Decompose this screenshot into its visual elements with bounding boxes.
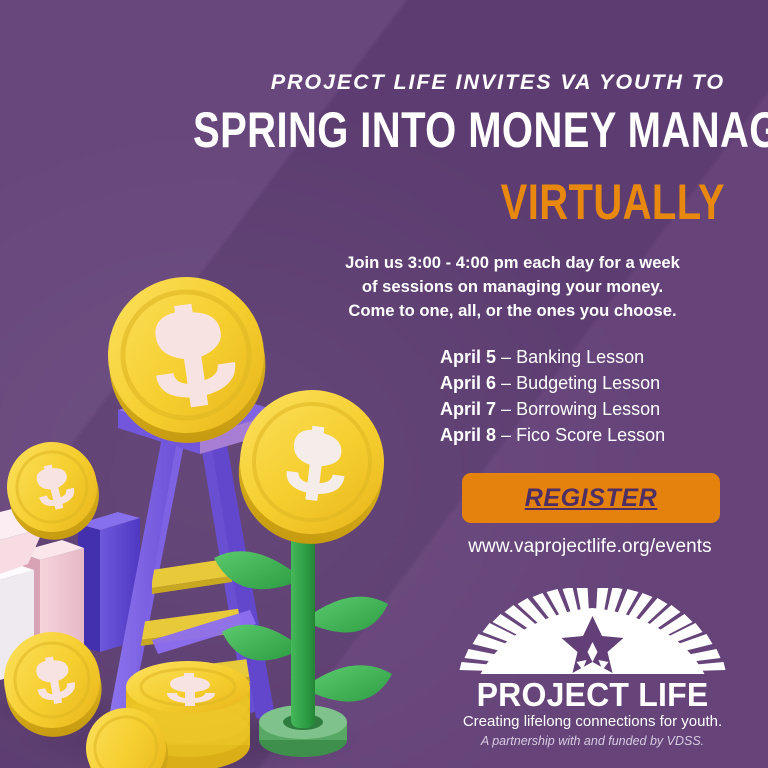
logo-wordmark: PROJECT LIFE: [459, 676, 726, 714]
session-title: Budgeting Lesson: [516, 373, 660, 393]
list-item: April 6 – Budgeting Lesson: [440, 371, 730, 397]
logo-tagline: Creating lifelong connections for youth.: [455, 713, 730, 730]
eyebrow-text: PROJECT LIFE INVITES VA YOUTH TO: [180, 72, 725, 94]
list-item: April 7 – Borrowing Lesson: [440, 397, 730, 423]
session-title: Banking Lesson: [516, 347, 644, 367]
promo-poster: PROJECT LIFE INVITES VA YOUTH TO SPRING …: [0, 0, 768, 768]
logo-subline: A partnership with and funded by VDSS.: [455, 734, 730, 748]
session-title: Fico Score Lesson: [516, 425, 665, 445]
starburst-icon: [455, 588, 730, 680]
session-date: April 5: [440, 347, 496, 367]
event-url[interactable]: www.vaprojectlife.org/events: [440, 536, 740, 558]
session-title: Borrowing Lesson: [516, 399, 660, 419]
session-list: April 5 – Banking Lesson April 6 – Budge…: [440, 345, 730, 449]
register-button-label: REGISTER: [525, 484, 658, 513]
session-date: April 8: [440, 425, 496, 445]
session-separator: –: [501, 399, 511, 419]
register-button[interactable]: REGISTER: [462, 473, 720, 523]
session-date: April 7: [440, 399, 496, 419]
session-date: April 6: [440, 373, 496, 393]
project-life-logo: PROJECT LIFE Creating lifelong connectio…: [455, 588, 730, 763]
session-separator: –: [501, 347, 511, 367]
page-title: SPRING INTO MONEY MANAGEMENT: [193, 104, 725, 157]
list-item: April 5 – Banking Lesson: [440, 345, 730, 371]
list-item: April 8 – Fico Score Lesson: [440, 423, 730, 449]
session-separator: –: [501, 425, 511, 445]
session-separator: –: [501, 373, 511, 393]
event-description: Join us 3:00 - 4:00 pm each day for a we…: [300, 251, 725, 324]
highlight-virtually: VIRTUALLY: [385, 176, 725, 229]
